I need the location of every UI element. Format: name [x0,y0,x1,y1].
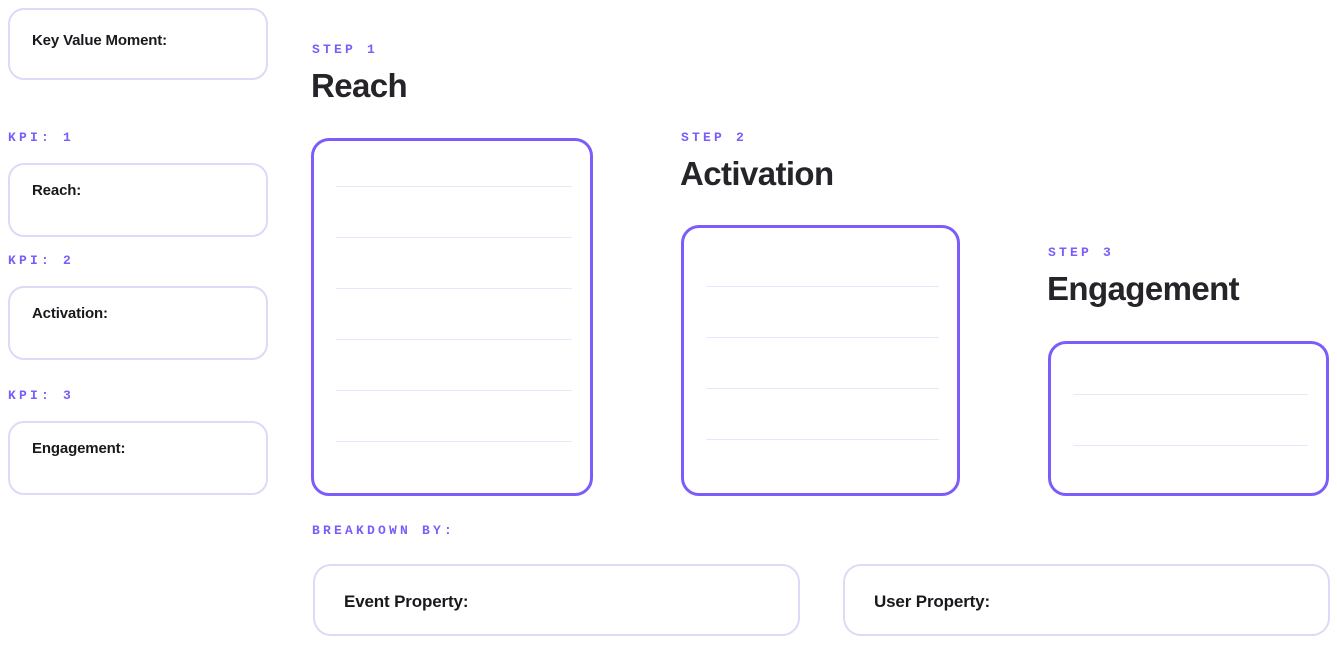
kpi-3-card[interactable]: Engagement: [8,421,268,495]
kpi-3-tag: KPI: 3 [8,389,74,402]
note-rule [1073,445,1308,446]
kpi-2-card[interactable]: Activation: [8,286,268,360]
event-property-label: Event Property: [344,592,468,612]
user-property-field[interactable]: User Property: [843,564,1330,636]
breakdown-by-tag: BREAKDOWN BY: [312,524,455,537]
step-3-tag: STEP 3 [1048,246,1114,259]
kpi-1-card[interactable]: Reach: [8,163,268,237]
note-rule [706,286,939,287]
note-rule [336,288,572,289]
kpi-1-label: Reach: [32,182,81,199]
note-rule [1073,394,1308,395]
kpi-3-label: Engagement: [32,440,125,457]
step-2-title: Activation [680,157,834,190]
kpi-2-label: Activation: [32,305,108,322]
step-1-notes-card[interactable] [311,138,593,496]
note-rule [336,441,572,442]
worksheet-canvas: Key Value Moment: KPI: 1 Reach: KPI: 2 A… [0,0,1337,646]
step-1-title: Reach [311,69,407,102]
step-2-notes-card[interactable] [681,225,960,496]
kpi-2-tag: KPI: 2 [8,254,74,267]
user-property-label: User Property: [874,592,990,612]
event-property-field[interactable]: Event Property: [313,564,800,636]
note-rule [336,186,572,187]
note-rule [336,339,572,340]
note-rule [336,237,572,238]
note-rule [706,388,939,389]
step-2-tag: STEP 2 [681,131,747,144]
key-value-moment-label: Key Value Moment: [32,32,167,49]
step-3-title: Engagement [1047,272,1239,305]
note-rule [706,337,939,338]
note-rule [336,390,572,391]
key-value-moment-card[interactable]: Key Value Moment: [8,8,268,80]
step-1-tag: STEP 1 [312,43,378,56]
note-rule [706,439,939,440]
kpi-1-tag: KPI: 1 [8,131,74,144]
step-3-notes-card[interactable] [1048,341,1329,496]
